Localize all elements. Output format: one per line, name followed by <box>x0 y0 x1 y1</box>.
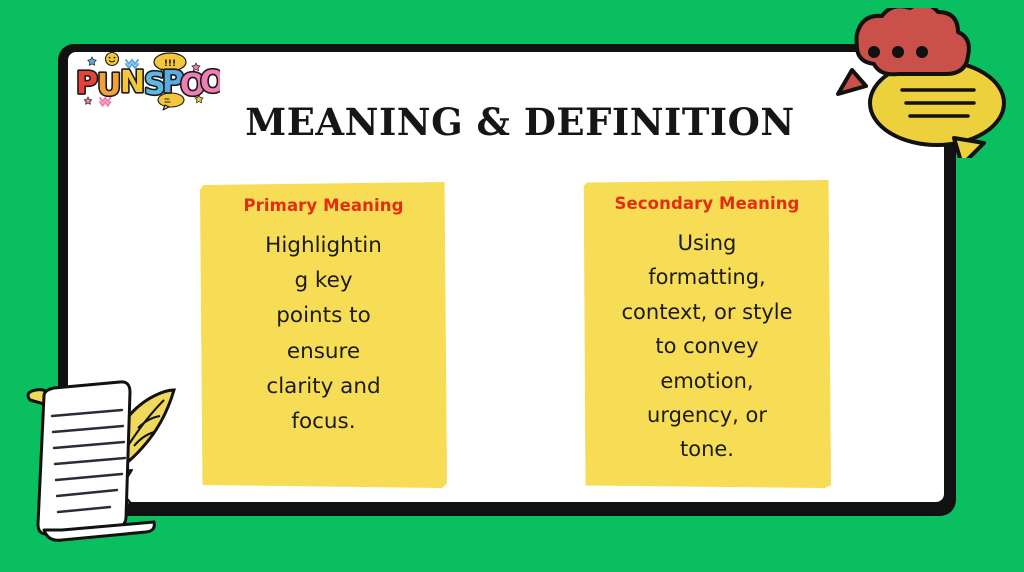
speech-bubbles-decoration <box>812 8 1017 158</box>
slide-canvas: !!! P U N S P O O MEANING & DEFINITION <box>0 0 1024 572</box>
note-card-secondary: Secondary Meaning Using formatting, cont… <box>583 180 831 488</box>
page-title: MEANING & DEFINITION <box>170 100 870 144</box>
scroll-paper-icon <box>28 382 154 540</box>
svg-text:O: O <box>200 65 220 100</box>
note-heading-secondary: Secondary Meaning <box>583 194 831 214</box>
svg-text:N: N <box>120 65 145 100</box>
punspoo-logo: !!! P U N S P O O <box>70 50 220 112</box>
svg-text:U: U <box>97 68 121 103</box>
note-card-primary: Primary Meaning Highlightin g key points… <box>200 182 447 488</box>
note-heading-primary: Primary Meaning <box>200 196 447 216</box>
logo-wordmark: P U N S P O O <box>76 65 220 103</box>
note-body-secondary: Using formatting, context, or style to c… <box>583 226 831 467</box>
note-body-primary: Highlightin g key points to ensure clari… <box>200 228 447 440</box>
svg-text:P: P <box>76 66 98 101</box>
scroll-quill-decoration <box>14 372 194 548</box>
